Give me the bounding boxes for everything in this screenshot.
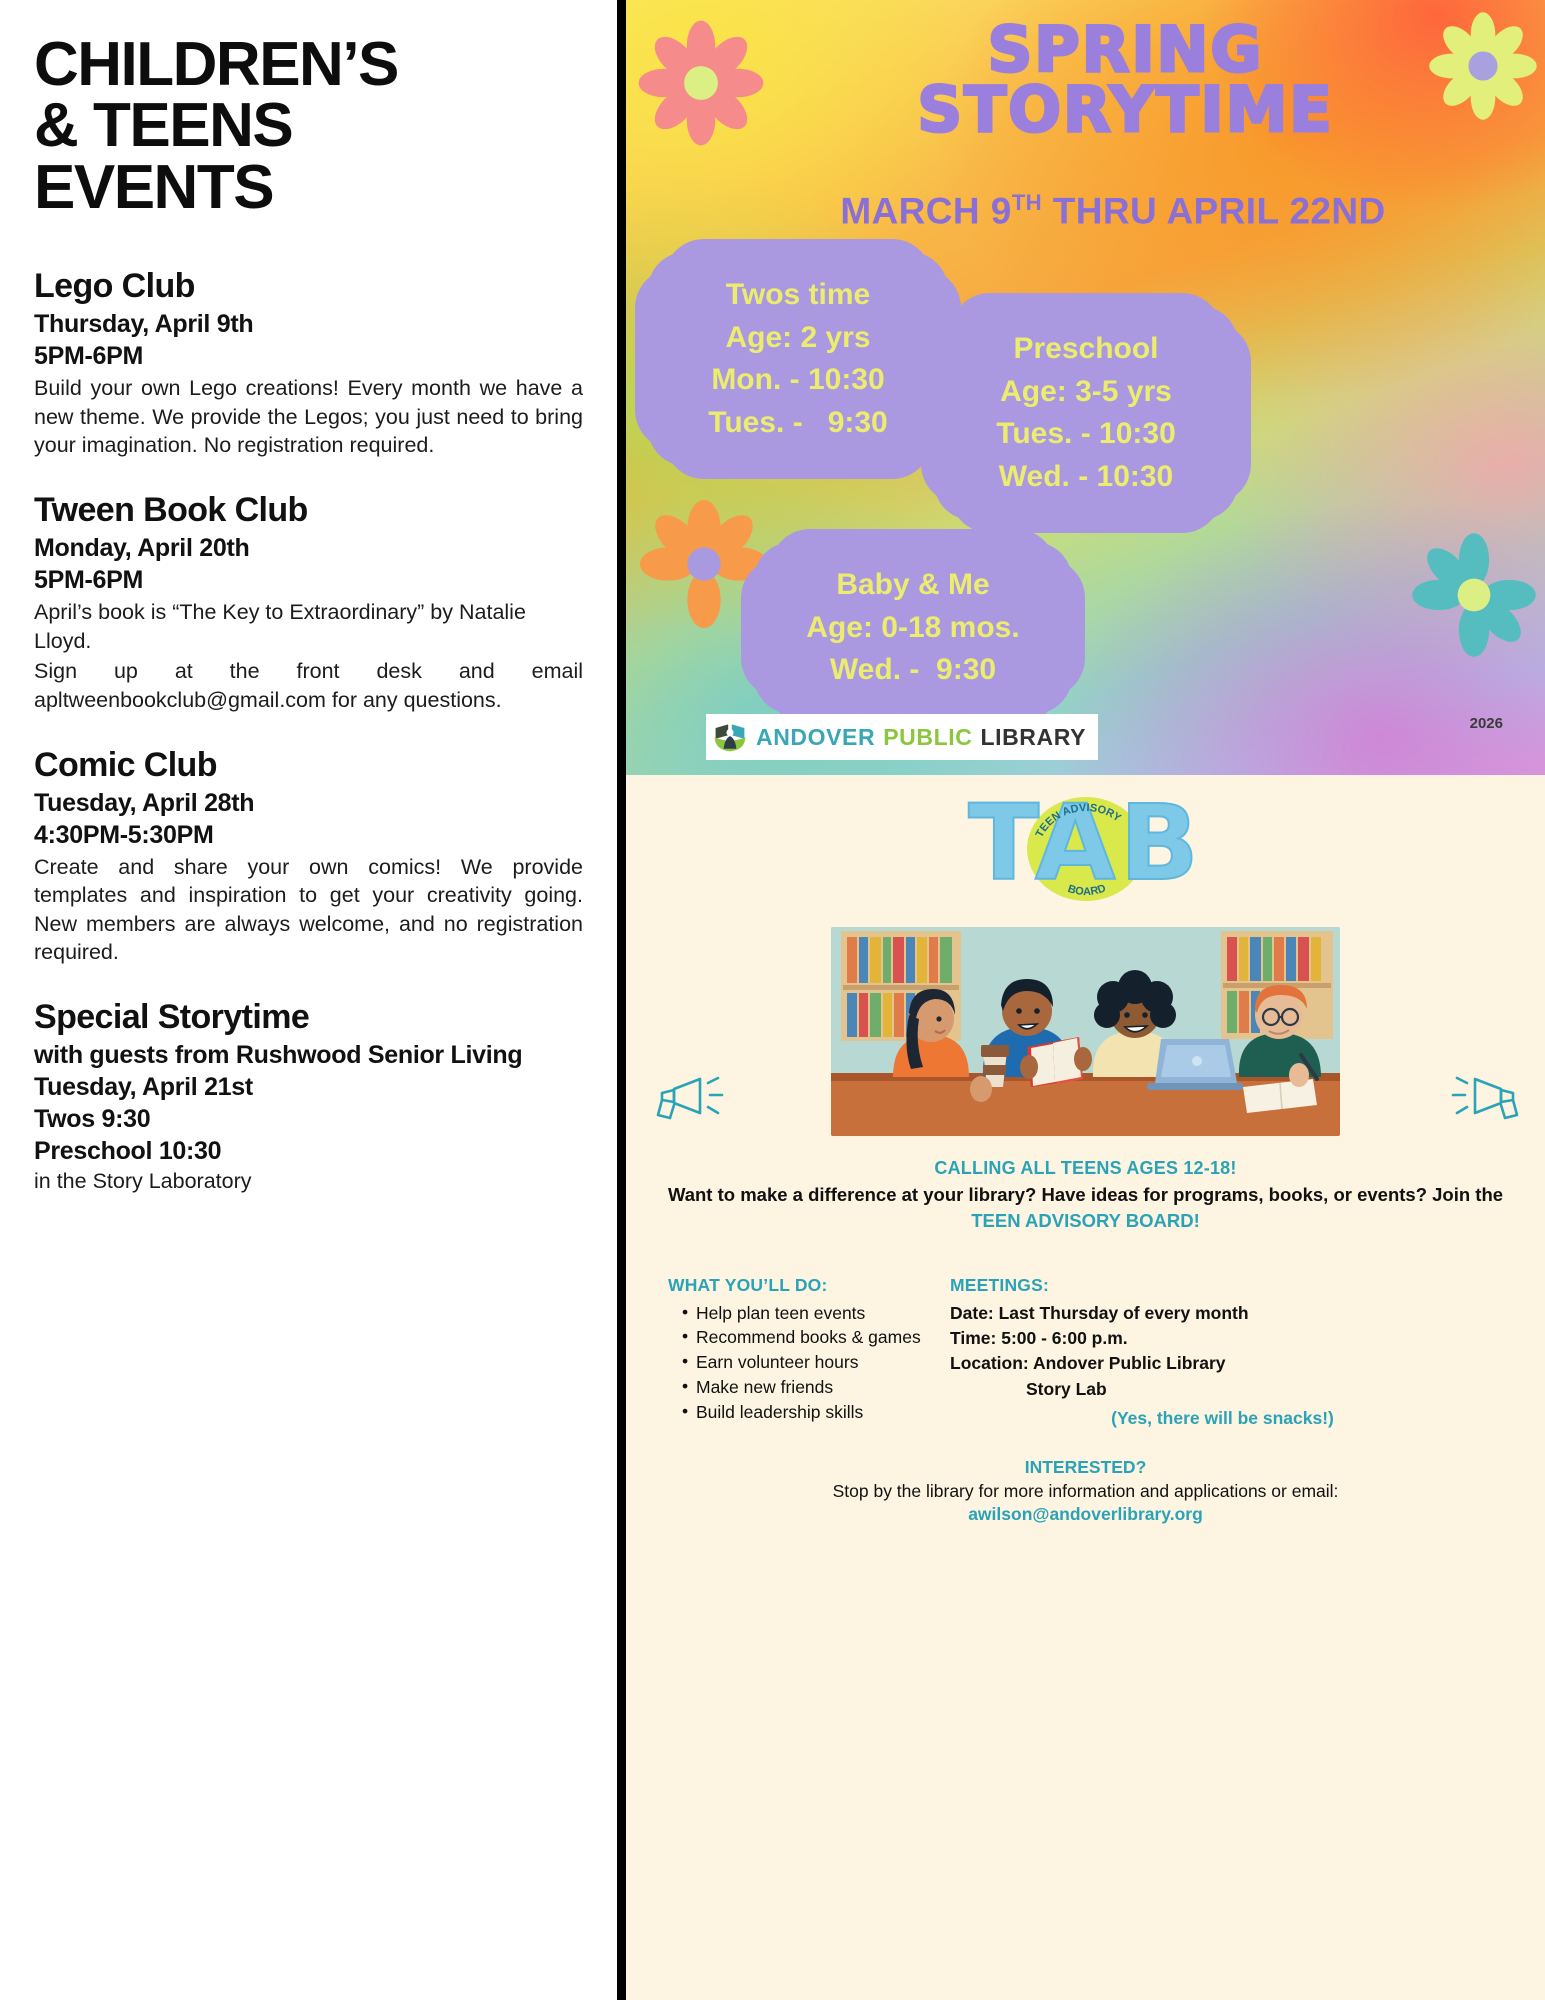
event-tween-book-club: Tween Book Club Monday, April 20th 5PM-6… (34, 490, 583, 714)
event-name: Comic Club (34, 745, 583, 785)
blob-line: Twos time (726, 274, 870, 317)
blob-line: Baby & Me (836, 564, 989, 607)
blob-line: Age: 3-5 yrs (1000, 371, 1172, 414)
list-item: Recommend books & games (682, 1325, 928, 1350)
blob-line: Wed. - 9:30 (830, 649, 996, 692)
page-title: CHILDREN’S & TEENS EVENTS (34, 34, 583, 218)
event-day: Monday, April 20th (34, 532, 583, 564)
event-subtitle: with guests from Rushwood Senior Living (34, 1039, 583, 1071)
event-name: Special Storytime (34, 997, 583, 1037)
list-item: Build leadership skills (682, 1400, 928, 1425)
posters-right-column: SPRING STORYTIME MARCH 9TH THRU APRIL 22… (626, 0, 1545, 2000)
event-location: in the Story Laboratory (34, 1167, 583, 1196)
flower-teal-icon (1411, 532, 1537, 658)
tab-intro-text: Want to make a difference at your librar… (668, 1184, 1503, 1205)
meetings-column: MEETINGS: Date: Last Thursday of every m… (944, 1275, 1501, 1430)
andover-public-library-logo: ANDOVER PUBLIC LIBRARY (706, 714, 1098, 760)
meeting-time: Time: 5:00 - 6:00 p.m. (944, 1326, 1501, 1351)
event-name: Lego Club (34, 266, 583, 306)
storytime-title-line-1: SPRING (706, 20, 1545, 80)
event-description: Build your own Lego creations! Every mon… (34, 374, 583, 460)
page-title-line-3: EVENTS (34, 157, 583, 218)
blob-line: Mon. - 10:30 (711, 359, 884, 402)
teens-illustration-svg (831, 927, 1340, 1136)
megaphone-left-icon (648, 1067, 726, 1133)
event-day: Thursday, April 9th (34, 308, 583, 340)
spring-storytime-poster: SPRING STORYTIME MARCH 9TH THRU APRIL 22… (626, 0, 1545, 775)
event-day: Tuesday, April 28th (34, 787, 583, 819)
teen-advisory-board-poster: TEEN ADVISORY BOARD TAB (626, 775, 1545, 2000)
list-item: Help plan teen events (682, 1301, 928, 1326)
event-name: Tween Book Club (34, 490, 583, 530)
event-time: 4:30PM-5:30PM (34, 819, 583, 851)
meeting-location: Location: Andover Public Library (944, 1351, 1501, 1376)
meeting-date: Date: Last Thursday of every month (944, 1301, 1501, 1326)
event-time: 5PM-6PM (34, 564, 583, 596)
column-divider (617, 0, 626, 2000)
svg-text:BOARD: BOARD (1066, 882, 1107, 898)
blob-line: Age: 0-18 mos. (806, 607, 1019, 650)
blob-line: Tues. - 10:30 (996, 413, 1176, 456)
meetings-heading: MEETINGS: (944, 1275, 1501, 1296)
event-special-storytime: Special Storytime with guests from Rushw… (34, 997, 583, 1196)
event-description-signup: Sign up at the front desk and email aplt… (34, 657, 583, 714)
event-lego-club: Lego Club Thursday, April 9th 5PM-6PM Bu… (34, 266, 583, 460)
event-day: Tuesday, April 21st (34, 1071, 583, 1103)
storytime-date-suffix: THRU APRIL 22ND (1042, 190, 1386, 231)
what-youll-do-heading: WHAT YOU’LL DO: (668, 1275, 928, 1296)
storytime-title-line-2: STORYTIME (706, 80, 1545, 140)
events-left-column: CHILDREN’S & TEENS EVENTS Lego Club Thur… (0, 0, 617, 2000)
what-youll-do-list: Help plan teen events Recommend books & … (668, 1301, 928, 1425)
storytime-blob-twos: Twos time Age: 2 yrs Mon. - 10:30 Tues. … (648, 252, 948, 466)
megaphone-right-icon (1449, 1067, 1527, 1133)
blob-line: Tues. - 9:30 (708, 402, 888, 445)
teens-illustration (831, 927, 1340, 1136)
event-time-twos: Twos 9:30 (34, 1103, 583, 1135)
storytime-blob-baby-and-me: Baby & Me Age: 0-18 mos. Wed. - 9:30 (754, 542, 1072, 714)
snacks-note: (Yes, there will be snacks!) (944, 1408, 1501, 1429)
tab-intro-highlight: TEEN ADVISORY BOARD! (971, 1210, 1200, 1231)
logo-text-library: LIBRARY (980, 724, 1086, 751)
what-youll-do-column: WHAT YOU’LL DO: Help plan teen events Re… (668, 1275, 928, 1430)
tab-ring-text: TEEN ADVISORY BOARD (1022, 795, 1150, 907)
list-item: Make new friends (682, 1375, 928, 1400)
library-logo-mark-icon (712, 719, 748, 755)
logo-text-public: PUBLIC (883, 724, 972, 751)
tab-logo: TEEN ADVISORY BOARD TAB (656, 791, 1515, 909)
calling-all-teens-headline: CALLING ALL TEENS AGES 12-18! (656, 1158, 1515, 1179)
storytime-date-range: MARCH 9TH THRU APRIL 22ND (626, 190, 1545, 232)
blob-line: Age: 2 yrs (725, 317, 870, 360)
logo-text-andover: ANDOVER (756, 724, 875, 751)
list-item: Earn volunteer hours (682, 1350, 928, 1375)
storytime-blob-preschool: Preschool Age: 3-5 yrs Tues. - 10:30 Wed… (934, 306, 1238, 520)
tab-details-columns: WHAT YOU’LL DO: Help plan teen events Re… (656, 1275, 1515, 1430)
stop-by-text: Stop by the library for more information… (656, 1481, 1515, 1502)
svg-text:TEEN ADVISORY: TEEN ADVISORY (1033, 802, 1123, 840)
event-description: Create and share your own comics! We pro… (34, 853, 583, 967)
event-time: 5PM-6PM (34, 340, 583, 372)
storytime-date-prefix: MARCH 9 (840, 190, 1011, 231)
tab-intro-paragraph: Want to make a difference at your librar… (656, 1182, 1515, 1235)
event-time-preschool: Preschool 10:30 (34, 1135, 583, 1167)
storytime-date-ordinal: TH (1012, 190, 1042, 215)
page-title-line-2: & TEENS (34, 95, 583, 156)
blob-line: Preschool (1013, 328, 1158, 371)
page-title-line-1: CHILDREN’S (34, 34, 583, 95)
event-comic-club: Comic Club Tuesday, April 28th 4:30PM-5:… (34, 745, 583, 967)
poster-year: 2026 (1470, 715, 1503, 732)
blob-line: Wed. - 10:30 (999, 456, 1174, 499)
contact-email-link[interactable]: awilson@andoverlibrary.org (656, 1504, 1515, 1525)
event-description: April’s book is “The Key to Extraordinar… (34, 598, 583, 655)
meeting-location-room: Story Lab (944, 1377, 1501, 1402)
storytime-title: SPRING STORYTIME (626, 20, 1545, 139)
interested-heading: INTERESTED? (656, 1457, 1515, 1478)
